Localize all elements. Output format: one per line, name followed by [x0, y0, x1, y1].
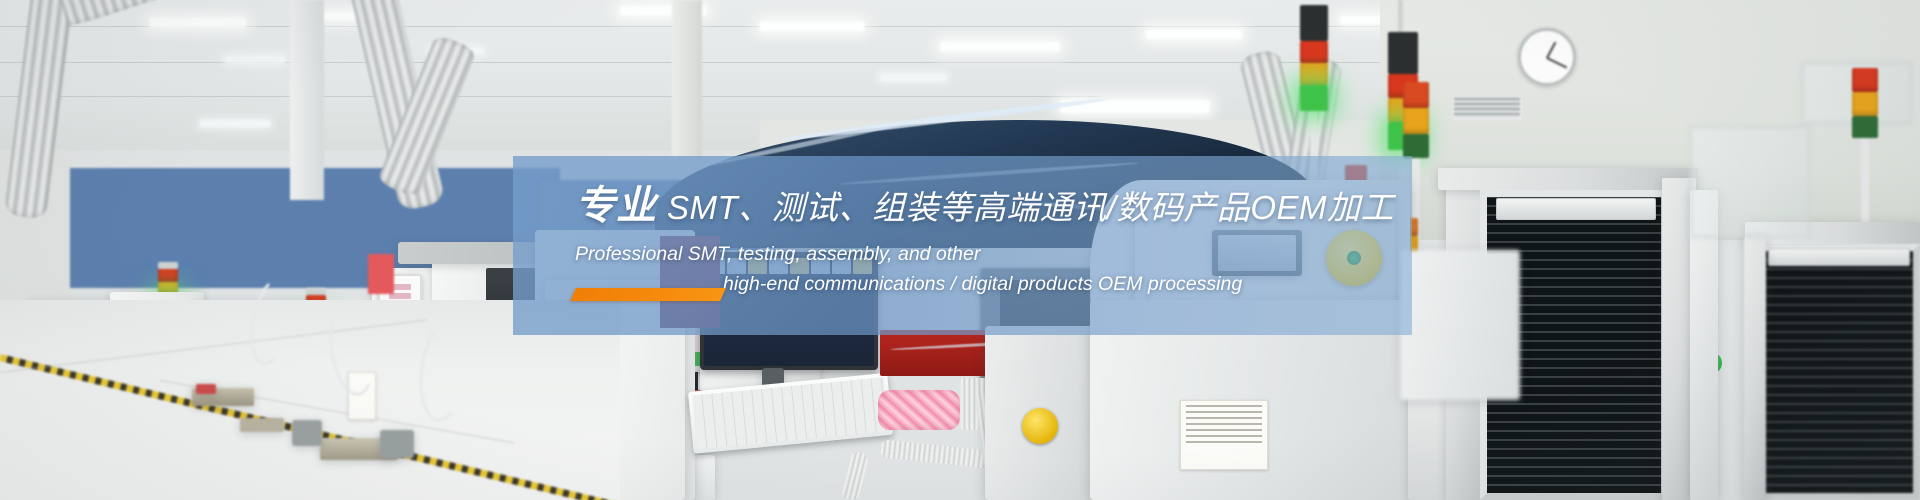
orange-accent-bar: [570, 288, 726, 301]
banner-text-overlay: 专业 SMT、测试、组装等高端通讯/数码产品OEM加工 Professional…: [513, 156, 1412, 335]
hero-banner: 专业 SMT、测试、组装等高端通讯/数码产品OEM加工 Professional…: [0, 0, 1920, 500]
headline-rest: SMT、测试、组装等高端通讯/数码产品OEM加工: [667, 191, 1394, 226]
subtitle-line-1: Professional SMT, testing, assembly, and…: [575, 243, 980, 265]
overlay-text-block: 专业 SMT、测试、组装等高端通讯/数码产品OEM加工 Professional…: [513, 156, 1412, 335]
headline-lead: 专业: [575, 186, 667, 226]
banner-headline: 专业 SMT、测试、组装等高端通讯/数码产品OEM加工: [575, 186, 1412, 226]
